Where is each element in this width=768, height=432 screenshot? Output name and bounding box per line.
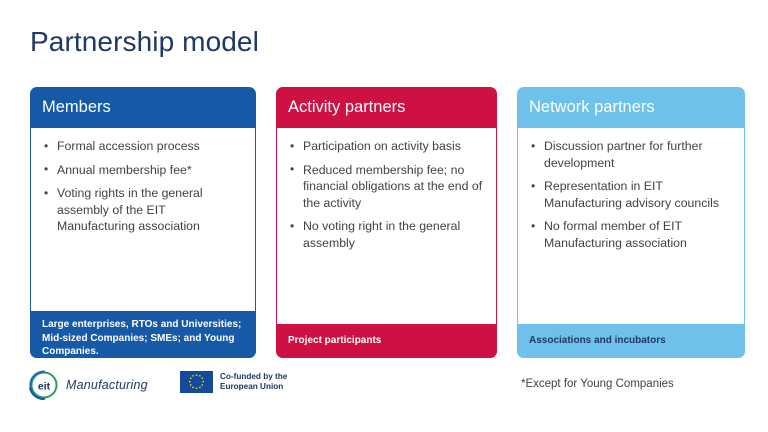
svg-text:eit: eit: [38, 380, 51, 392]
bullet-list-activity: Participation on activity basis Reduced …: [287, 138, 486, 251]
footnote-text: *Except for Young Companies: [521, 377, 674, 392]
list-item: No formal member of EIT Manufacturing as…: [528, 218, 734, 251]
list-item: Representation in EIT Manufacturing advi…: [528, 178, 734, 211]
eit-manufacturing-logo: eit Manufacturing: [27, 370, 148, 400]
page-title: Partnership model: [30, 25, 259, 59]
slide-canvas: Partnership model Members Formal accessi…: [0, 0, 768, 432]
eit-circle-icon: eit: [27, 370, 61, 400]
card-body-network: Discussion partner for further developme…: [517, 128, 745, 324]
bullet-list-members: Formal accession process Annual membersh…: [41, 138, 245, 235]
card-body-members: Formal accession process Annual membersh…: [30, 128, 256, 311]
card-activity-partners: Activity partners Participation on activ…: [276, 87, 497, 358]
list-item: Reduced membership fee; no financial obl…: [287, 162, 486, 212]
card-network-partners: Network partners Discussion partner for …: [517, 87, 745, 358]
list-item: Formal accession process: [41, 138, 245, 155]
card-footer-activity: Project participants: [276, 324, 497, 358]
eu-cofunded-logo: Co-funded by the European Union: [180, 371, 287, 393]
card-header-label: Activity partners: [288, 98, 405, 117]
list-item: Voting rights in the general assembly of…: [41, 185, 245, 235]
eu-flag-icon: [180, 371, 213, 393]
card-header-network: Network partners: [517, 87, 745, 128]
bullet-list-network: Discussion partner for further developme…: [528, 138, 734, 251]
eu-cofunded-label: Co-funded by the European Union: [220, 372, 287, 392]
list-item: Participation on activity basis: [287, 138, 486, 155]
card-footer-members: Large enterprises, RTOs and Universities…: [30, 311, 256, 358]
card-footer-network: Associations and incubators: [517, 324, 745, 358]
card-members: Members Formal accession process Annual …: [30, 87, 256, 358]
card-header-activity: Activity partners: [276, 87, 497, 128]
card-body-activity: Participation on activity basis Reduced …: [276, 128, 497, 324]
card-header-members: Members: [30, 87, 256, 128]
card-header-label: Members: [42, 98, 111, 117]
eit-wordmark-label: Manufacturing: [66, 378, 148, 392]
list-item: Annual membership fee*: [41, 162, 245, 179]
list-item: Discussion partner for further developme…: [528, 138, 734, 171]
card-header-label: Network partners: [529, 98, 655, 117]
list-item: No voting right in the general assembly: [287, 218, 486, 251]
